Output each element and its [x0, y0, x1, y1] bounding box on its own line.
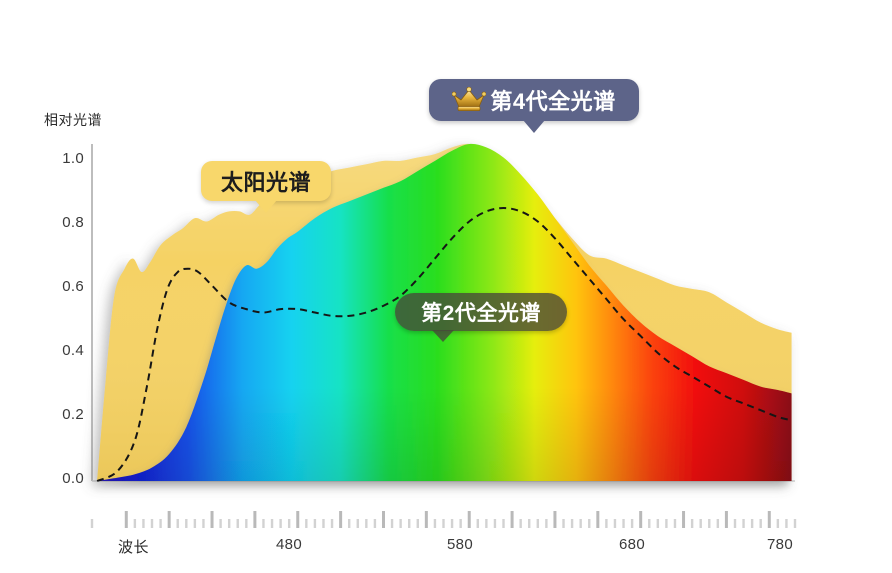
- y-tick-label-5: 0.2: [42, 406, 84, 423]
- y-tick-label-1: 1.0: [42, 150, 84, 167]
- y-tick-label-2: 0.8: [42, 214, 84, 231]
- x-tick-label-580: 580: [430, 536, 490, 553]
- crown-icon: [452, 87, 486, 113]
- y-tick-label-6: 0.0: [42, 470, 84, 487]
- callout-sun[interactable]: 太阳光谱: [201, 161, 331, 201]
- x-tick-label-680: 680: [602, 536, 662, 553]
- callout-gen4-tail: [523, 120, 545, 133]
- x-tick-label-480: 480: [259, 536, 319, 553]
- callout-gen2[interactable]: 第2代全光谱: [395, 293, 567, 331]
- x-axis-title: 波长: [118, 536, 149, 557]
- y-tick-label-3: 0.6: [42, 278, 84, 295]
- callout-sun-tail: [255, 200, 277, 213]
- x-tick-label-780: 780: [750, 536, 810, 553]
- callout-gen2-label: 第2代全光谱: [421, 297, 541, 327]
- y-axis-title: 相对光谱: [44, 110, 102, 130]
- y-tick-label-4: 0.4: [42, 342, 84, 359]
- callout-gen4[interactable]: 第4代全光谱: [429, 79, 639, 121]
- x-axis-ruler: [92, 511, 795, 528]
- spectrum-chart: 相对光谱 波长 1.0 0.8 0.6 0.4 0.2 0.0 480 580 …: [0, 0, 892, 573]
- callout-sun-label: 太阳光谱: [221, 165, 311, 197]
- callout-gen2-tail: [432, 330, 454, 342]
- callout-gen4-label: 第4代全光谱: [490, 84, 615, 116]
